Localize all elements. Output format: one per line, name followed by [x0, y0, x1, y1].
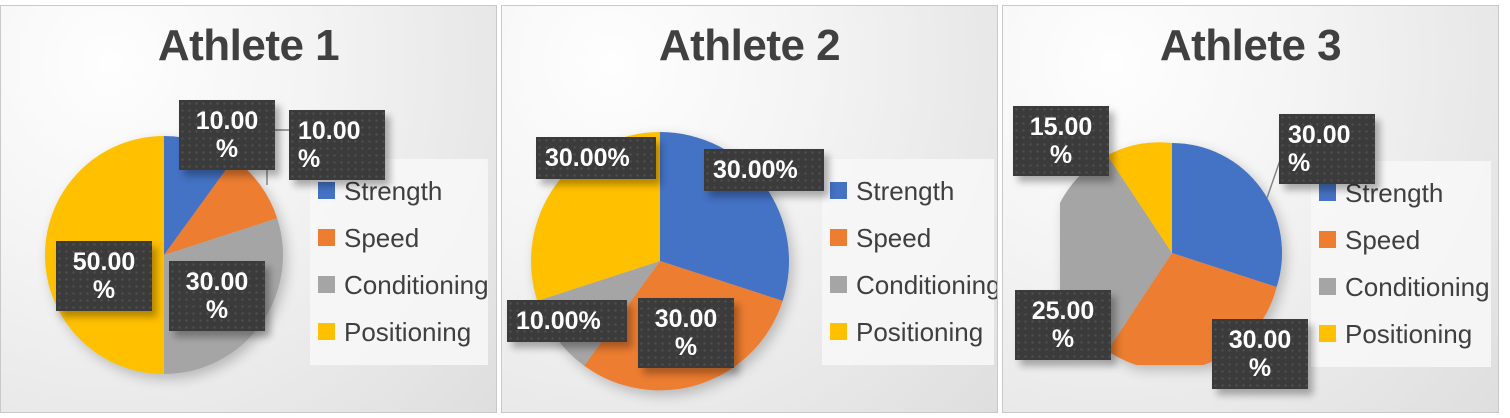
legend-label-speed: Speed [344, 225, 419, 251]
legend-swatch-positioning-icon [318, 323, 335, 340]
legend-label-speed: Speed [1345, 227, 1420, 253]
legend-label-conditioning: Conditioning [344, 272, 489, 298]
legend-item-conditioning[interactable]: Conditioning [1319, 263, 1481, 310]
legend-item-speed[interactable]: Speed [830, 214, 984, 261]
chart-legend: Strength Speed Conditioning Positioning [1311, 161, 1491, 367]
legend-swatch-speed-icon [830, 229, 847, 246]
data-label-strength[interactable]: 10.00 % [179, 100, 275, 170]
legend-item-positioning[interactable]: Positioning [830, 308, 984, 355]
legend-item-speed[interactable]: Speed [1319, 216, 1481, 263]
legend-item-conditioning[interactable]: Conditioning [318, 261, 478, 308]
data-label-speed[interactable]: 30.00 % [1212, 319, 1308, 389]
legend-item-speed[interactable]: Speed [318, 214, 478, 261]
legend-label-positioning: Positioning [1345, 321, 1472, 347]
data-label-speed[interactable]: 30.00 % [638, 298, 734, 368]
chart-panel-athlete-3: Athlete 3 Strength Speed [1002, 5, 1499, 413]
legend-label-speed: Speed [856, 225, 931, 251]
chart-panel-athlete-2: Athlete 2 Strength Speed [501, 5, 998, 413]
legend-label-strength: Strength [344, 178, 442, 204]
legend-label-positioning: Positioning [344, 319, 471, 345]
legend-label-conditioning: Conditioning [856, 272, 998, 298]
page-title: Athlete 2 [502, 24, 997, 68]
legend-label-conditioning: Conditioning [1345, 274, 1490, 300]
legend-label-strength: Strength [856, 178, 954, 204]
legend-swatch-speed-icon [318, 229, 335, 246]
data-label-strength[interactable]: 30.00% [704, 149, 824, 191]
legend-swatch-positioning-icon [830, 323, 847, 340]
page-title: Athlete 1 [1, 24, 496, 68]
legend-label-positioning: Positioning [856, 319, 983, 345]
legend-swatch-conditioning-icon [830, 276, 847, 293]
page-title: Athlete 3 [1003, 24, 1498, 68]
chart-legend: Strength Speed Conditioning Positioning [310, 159, 488, 365]
legend-swatch-strength-icon [1319, 184, 1336, 201]
data-label-positioning[interactable]: 30.00% [536, 137, 656, 179]
data-label-positioning[interactable]: 50.00 % [56, 241, 152, 311]
data-label-conditioning[interactable]: 25.00 % [1015, 290, 1111, 360]
athlete-pie-chart-row: Athlete 1 Strength Speed [0, 0, 1510, 418]
data-label-conditioning[interactable]: 30.00 % [169, 261, 265, 331]
data-label-strength[interactable]: 30.00 % [1279, 114, 1375, 184]
data-label-conditioning[interactable]: 10.00% [507, 300, 627, 342]
legend-item-conditioning[interactable]: Conditioning [830, 261, 984, 308]
chart-legend: Strength Speed Conditioning Positioning [822, 159, 994, 365]
legend-item-positioning[interactable]: Positioning [318, 308, 478, 355]
legend-swatch-speed-icon [1319, 231, 1336, 248]
chart-panel-athlete-1: Athlete 1 Strength Speed [0, 5, 497, 413]
legend-swatch-strength-icon [318, 182, 335, 199]
legend-item-strength[interactable]: Strength [830, 167, 984, 214]
legend-swatch-strength-icon [830, 182, 847, 199]
legend-swatch-positioning-icon [1319, 325, 1336, 342]
legend-item-positioning[interactable]: Positioning [1319, 310, 1481, 357]
data-label-speed[interactable]: 10.00 % [289, 110, 385, 180]
legend-swatch-conditioning-icon [1319, 278, 1336, 295]
legend-swatch-conditioning-icon [318, 276, 335, 293]
data-label-positioning[interactable]: 15.00 % [1013, 106, 1109, 176]
